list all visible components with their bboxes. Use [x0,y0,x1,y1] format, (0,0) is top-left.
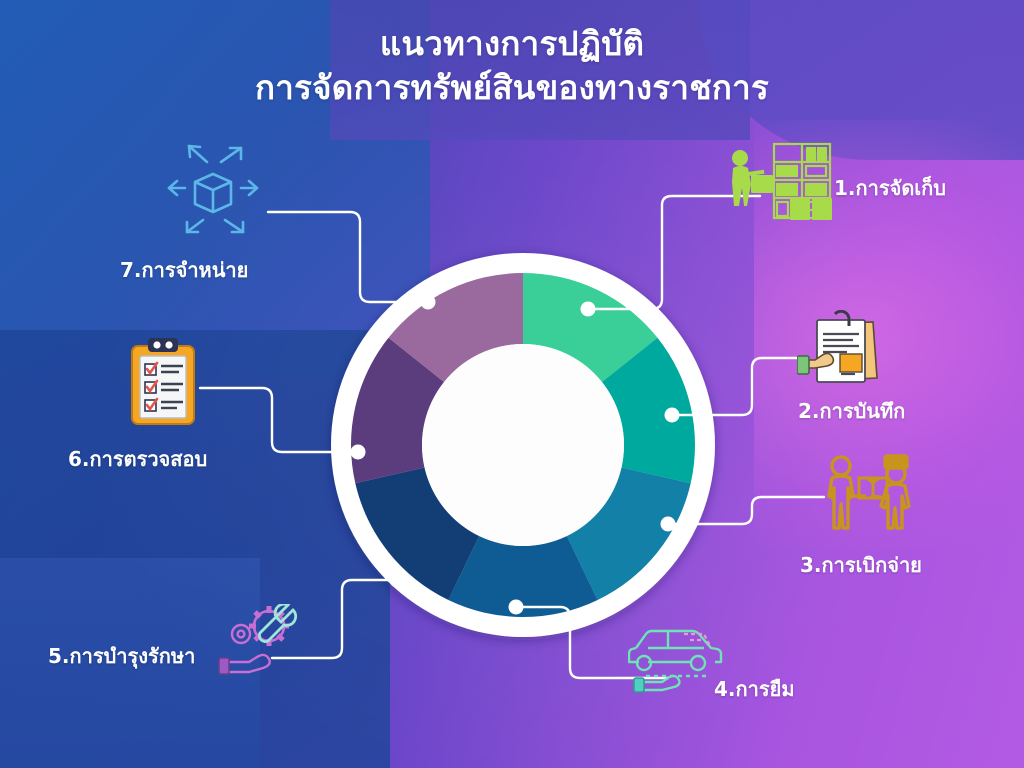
clipboard-checklist-icon [126,336,204,428]
page-title-line-2: การจัดการทรัพย์สินของทางราชการ [0,66,1024,110]
page-title-line-1: แนวทางการปฏิบัติ [0,22,1024,66]
step-label-2: 2.การบันทึก [798,395,905,427]
step-label-6: 6.การตรวจสอบ [68,443,207,475]
handover-box-icon [823,452,915,532]
document-record-icon [797,310,885,388]
step-label-7: 7.การจำหน่าย [120,254,248,286]
infographic-canvas: แนวทางการปฏิบัติ การจัดการทรัพย์สินของทา… [0,0,1024,768]
package-dispose-arrows-icon [165,144,261,236]
gear-wrench-maintenance-icon [217,604,309,680]
page-title: แนวทางการปฏิบัติ การจัดการทรัพย์สินของทา… [0,22,1024,109]
step-label-3: 3.การเบิกจ่าย [800,549,922,581]
step-label-4: 4.การยืม [714,673,795,705]
warehouse-storage-icon [722,142,832,226]
car-borrow-icon [628,616,726,694]
step-label-1: 1.การจัดเก็บ [834,172,946,204]
wheel-hub [422,344,624,546]
step-label-5: 5.การบำรุงรักษา [48,640,195,672]
process-wheel-chart [328,250,718,640]
